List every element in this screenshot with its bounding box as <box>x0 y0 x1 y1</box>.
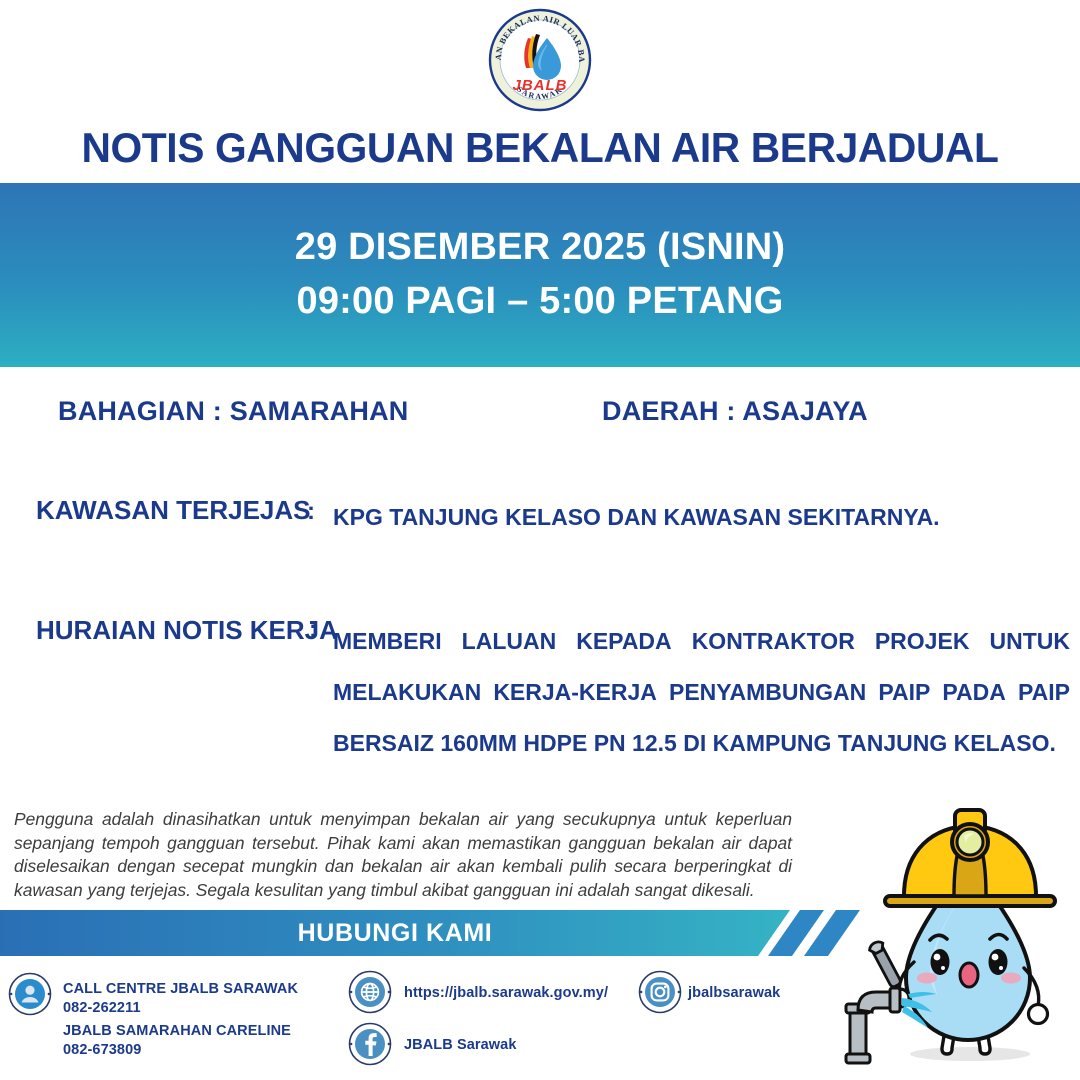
facebook-icon[interactable] <box>348 1022 392 1066</box>
work-description-word: MELAKUKAN <box>333 667 481 718</box>
work-description-word: PAIP <box>878 667 930 718</box>
division-district-row: BAHAGIAN : SAMARAHAN DAERAH : ASAJAYA <box>0 396 1080 436</box>
page-title: NOTIS GANGGUAN BEKALAN AIR BERJADUAL <box>16 124 1064 172</box>
work-description-word: UNTUK <box>989 616 1070 667</box>
work-description-label: HURAIAN NOTIS KERJA <box>36 615 338 646</box>
facebook-handle[interactable]: JBALB Sarawak <box>404 1036 517 1055</box>
affected-area-value: KPG TANJUNG KELASO DAN KAWASAN SEKITARNY… <box>333 504 940 531</box>
careline-name: JBALB SAMARAHAN CARELINE <box>63 1022 291 1041</box>
globe-icon[interactable] <box>348 970 392 1014</box>
person-icon <box>8 972 52 1016</box>
jbalb-logo: JABATAN BEKALAN AIR LUAR BANDAR SARAWAK … <box>488 8 592 112</box>
careline-phone: 082-673809 <box>63 1041 291 1060</box>
disruption-time: 09:00 PAGI – 5:00 PETANG <box>296 275 783 329</box>
schedule-banner: 29 DISEMBER 2025 (ISNIN) 09:00 PAGI – 5:… <box>0 183 1080 367</box>
call-centre-phone: 082-262211 <box>63 999 298 1018</box>
work-description-line-1: MEMBERILALUANKEPADAKONTRAKTORPROJEKUNTUK <box>333 616 1070 667</box>
instagram-handle[interactable]: jbalbsarawak <box>688 984 780 1003</box>
affected-area-colon: : <box>307 498 315 526</box>
notice-poster: JABATAN BEKALAN AIR LUAR BANDAR SARAWAK … <box>0 0 1080 1080</box>
website-url[interactable]: https://jbalb.sarawak.gov.my/ <box>404 984 608 1003</box>
water-droplet-worker-mascot <box>838 792 1076 1078</box>
work-description-line-2: MELAKUKANKERJA-KERJAPENYAMBUNGANPAIPPADA… <box>333 667 1070 718</box>
work-description-word: PROJEK <box>875 616 970 667</box>
division-label: BAHAGIAN : SAMARAHAN <box>58 396 408 427</box>
call-centre-contact: CALL CENTRE JBALB SARAWAK 082-262211 <box>63 980 298 1018</box>
instagram-icon[interactable] <box>638 970 682 1014</box>
advisory-paragraph: Pengguna adalah dinasihatkan untuk menyi… <box>14 808 792 902</box>
contact-banner-title: HUBUNGI KAMI <box>0 919 790 948</box>
work-description-colon: : <box>309 616 317 644</box>
work-description-word: MEMBERI <box>333 616 442 667</box>
work-description-word: PAIP <box>1018 667 1070 718</box>
careline-contact: JBALB SAMARAHAN CARELINE 082-673809 <box>63 1022 291 1060</box>
affected-area-label: KAWASAN TERJEJAS <box>36 495 311 526</box>
work-description-word: KERJA-KERJA <box>493 667 657 718</box>
work-description-line-3: BERSAIZ 160MM HDPE PN 12.5 DI KAMPUNG TA… <box>333 718 1070 769</box>
svg-text:JBALB: JBALB <box>512 77 567 94</box>
work-description-word: LALUAN <box>462 616 557 667</box>
work-description-word: PADA <box>942 667 1005 718</box>
work-description-word: KEPADA <box>576 616 671 667</box>
call-centre-name: CALL CENTRE JBALB SARAWAK <box>63 980 298 999</box>
work-description-word: KONTRAKTOR <box>692 616 855 667</box>
work-description-word: PENYAMBUNGAN <box>669 667 866 718</box>
district-label: DAERAH : ASAJAYA <box>602 396 868 427</box>
work-description-body: MEMBERILALUANKEPADAKONTRAKTORPROJEKUNTUK… <box>333 616 1070 769</box>
disruption-date: 29 DISEMBER 2025 (ISNIN) <box>295 221 786 275</box>
